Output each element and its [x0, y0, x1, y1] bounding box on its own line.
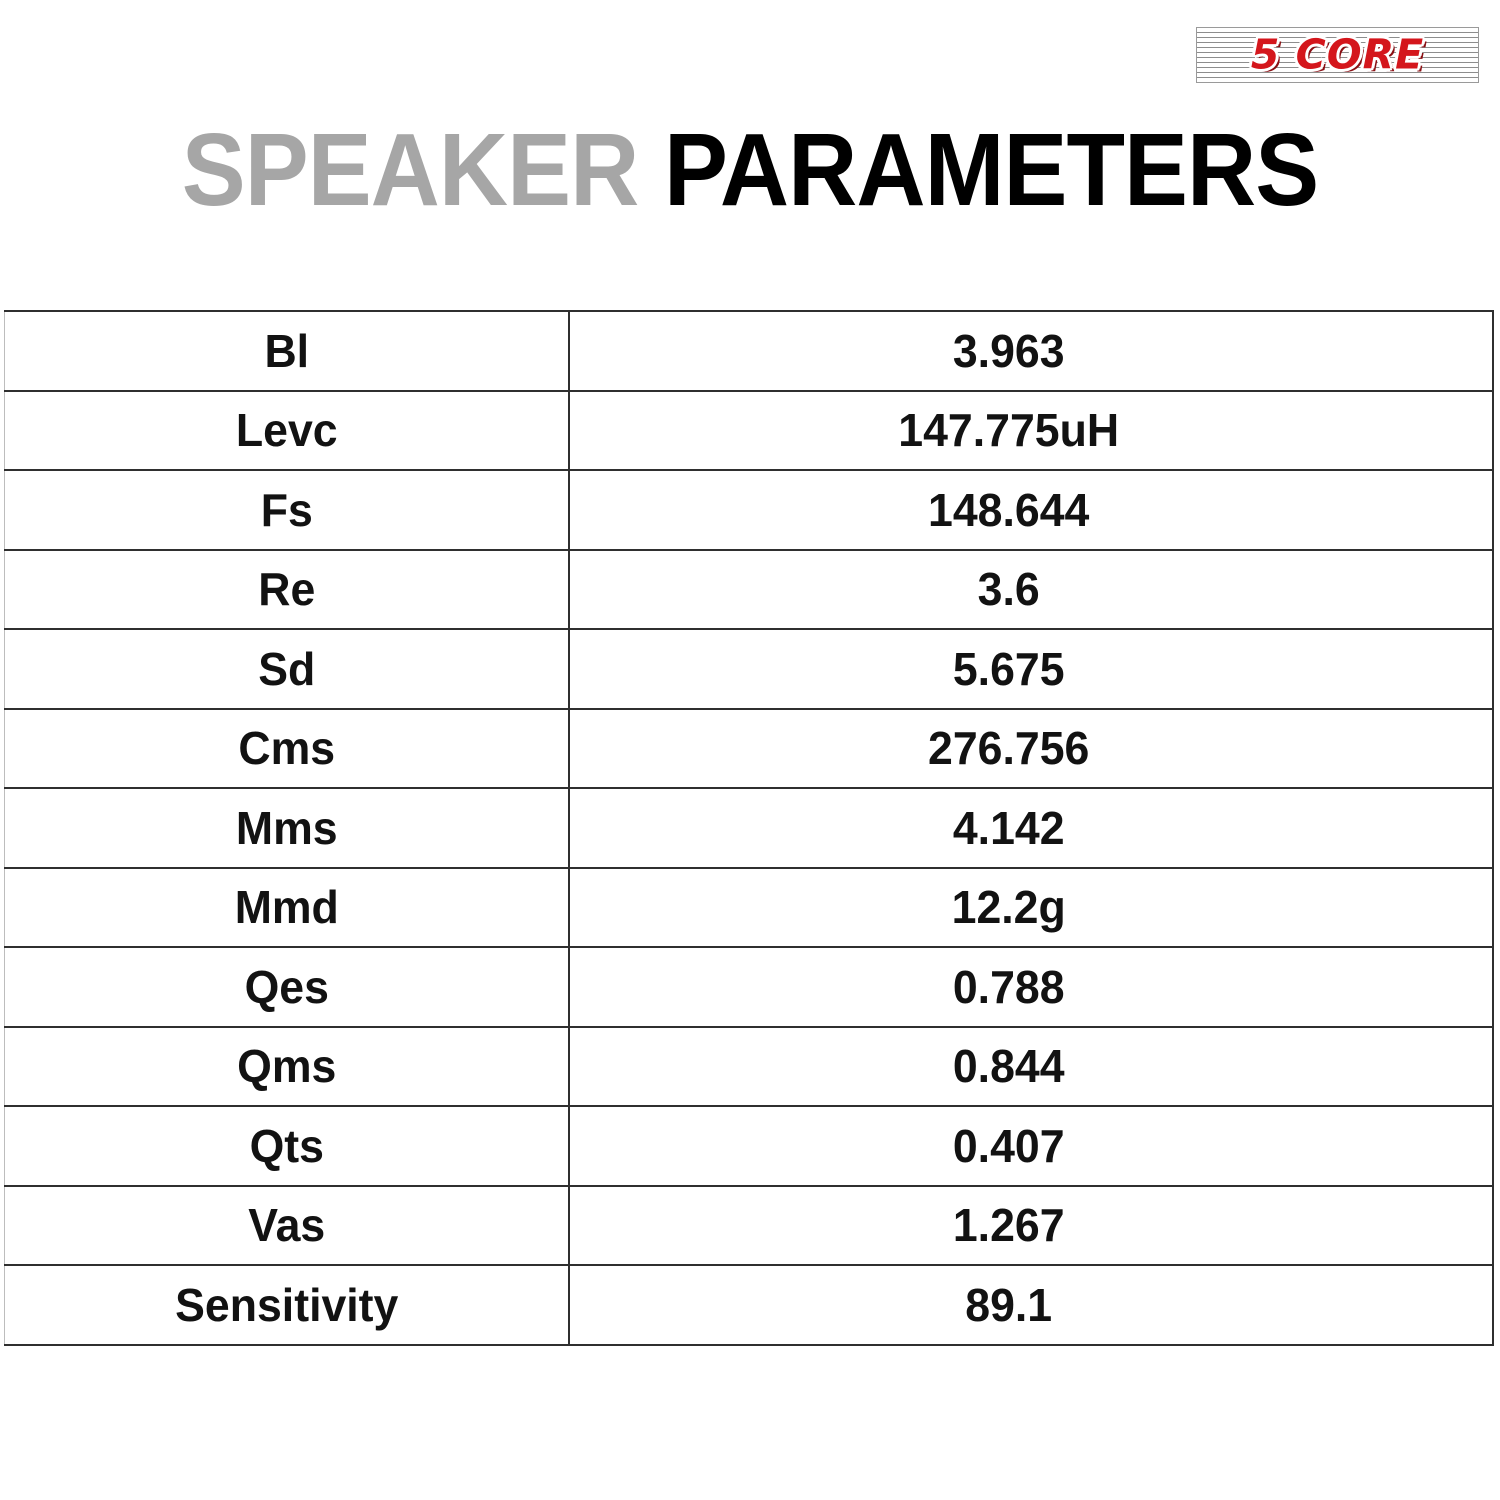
- parameter-value-cell: 12.2g: [582, 868, 1478, 948]
- parameter-value-cell: 3.963: [582, 311, 1478, 391]
- table-row: Qes0.788: [5, 947, 1493, 1027]
- parameter-label-cell: Qms: [13, 1027, 560, 1107]
- parameter-label-cell: Fs: [13, 470, 560, 550]
- page-title: SPEAKER PARAMETERS: [53, 118, 1448, 221]
- table-row: Qms0.844: [5, 1027, 1493, 1107]
- parameter-value-cell: 3.6: [582, 550, 1478, 630]
- table-row: Cms276.756: [5, 709, 1493, 789]
- parameter-label-cell: Mmd: [13, 868, 560, 948]
- parameter-value-cell: 5.675: [582, 629, 1478, 709]
- parameters-table-body: Bl3.963Levc147.775uHFs148.644Re3.6Sd5.67…: [5, 311, 1493, 1345]
- speaker-parameters-table: Bl3.963Levc147.775uHFs148.644Re3.6Sd5.67…: [4, 310, 1494, 1346]
- parameter-value-cell: 147.775uH: [582, 391, 1478, 471]
- parameter-label-cell: Qts: [13, 1106, 560, 1186]
- parameter-label-cell: Mms: [13, 788, 560, 868]
- parameter-label-cell: Bl: [13, 311, 560, 391]
- parameter-label-cell: Levc: [13, 391, 560, 471]
- brand-logo-text: 5 CORE: [1197, 35, 1478, 76]
- brand-logo: 5 CORE: [1196, 27, 1479, 83]
- parameter-label-cell: Qes: [13, 947, 560, 1027]
- product-spec-page: 5 CORE SPEAKER PARAMETERS Bl3.963Levc147…: [0, 0, 1500, 1500]
- table-row: Bl3.963: [5, 311, 1493, 391]
- parameter-value-cell: 4.142: [582, 788, 1478, 868]
- parameter-value-cell: 148.644: [582, 470, 1478, 550]
- parameter-label-cell: Vas: [13, 1186, 560, 1266]
- parameter-label-cell: Sensitivity: [13, 1265, 560, 1345]
- table-row: Fs148.644: [5, 470, 1493, 550]
- parameter-value-cell: 0.844: [582, 1027, 1478, 1107]
- parameter-value-cell: 1.267: [582, 1186, 1478, 1266]
- table-row: Sd5.675: [5, 629, 1493, 709]
- parameter-label-cell: Sd: [13, 629, 560, 709]
- table-row: Levc147.775uH: [5, 391, 1493, 471]
- table-row: Qts0.407: [5, 1106, 1493, 1186]
- parameter-value-cell: 0.407: [582, 1106, 1478, 1186]
- parameter-value-cell: 0.788: [582, 947, 1478, 1027]
- parameter-value-cell: 89.1: [582, 1265, 1478, 1345]
- parameter-value-cell: 276.756: [582, 709, 1478, 789]
- parameter-label-cell: Re: [13, 550, 560, 630]
- table-row: Mms4.142: [5, 788, 1493, 868]
- parameter-label-cell: Cms: [13, 709, 560, 789]
- table-row: Sensitivity89.1: [5, 1265, 1493, 1345]
- table-row: Mmd12.2g: [5, 868, 1493, 948]
- table-row: Re3.6: [5, 550, 1493, 630]
- page-title-primary: SPEAKER: [182, 112, 639, 227]
- table-row: Vas1.267: [5, 1186, 1493, 1266]
- page-title-secondary: PARAMETERS: [664, 112, 1318, 227]
